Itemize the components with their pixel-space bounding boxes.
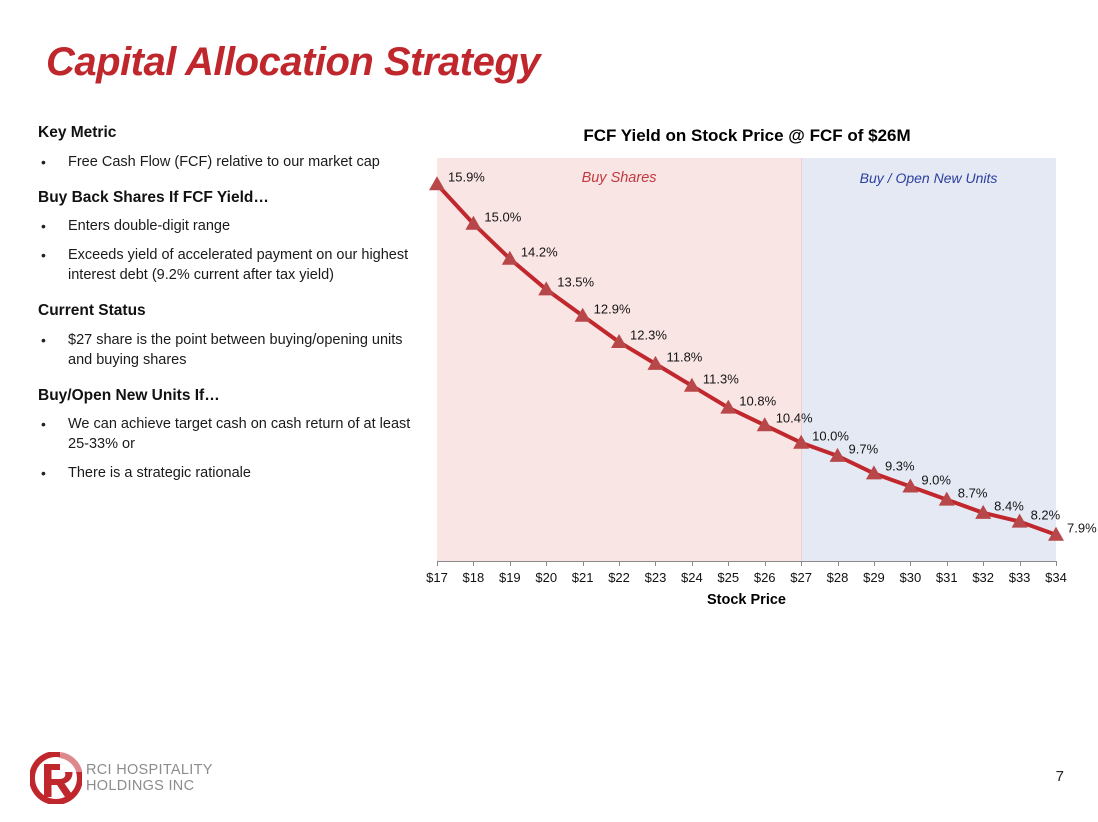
logo-wordmark: RCI HOSPITALITY HOLDINGS INC xyxy=(86,762,213,794)
x-axis-tick-label: $24 xyxy=(681,570,703,585)
data-point-label: 10.4% xyxy=(776,411,813,426)
series-marker xyxy=(684,378,700,392)
x-axis-tick xyxy=(765,561,766,566)
x-axis-tick xyxy=(838,561,839,566)
bullet-item: •There is a strategic rationale xyxy=(38,463,423,483)
x-axis-tick-label: $26 xyxy=(754,570,776,585)
x-axis-title: Stock Price xyxy=(437,592,1056,608)
x-axis-tick xyxy=(583,561,584,566)
bullet-item: •$27 share is the point between buying/o… xyxy=(38,330,423,370)
bullet-item: •Free Cash Flow (FCF) relative to our ma… xyxy=(38,152,423,172)
data-point-label: 8.2% xyxy=(1031,507,1061,522)
x-axis-tick xyxy=(801,561,802,566)
bullet-text: There is a strategic rationale xyxy=(68,463,423,483)
x-axis-tick xyxy=(692,561,693,566)
x-axis-line xyxy=(437,561,1056,562)
content-section: Key Metric•Free Cash Flow (FCF) relative… xyxy=(38,124,423,172)
x-axis-tick-label: $31 xyxy=(936,570,958,585)
x-axis-tick-label: $19 xyxy=(499,570,521,585)
x-axis-tick-label: $21 xyxy=(572,570,594,585)
series-marker xyxy=(429,176,445,190)
x-axis-tick-label: $20 xyxy=(535,570,557,585)
series-line xyxy=(437,184,1056,534)
section-heading: Current Status xyxy=(38,302,423,321)
bullet-marker-icon: • xyxy=(38,414,68,434)
x-axis-tick-label: $34 xyxy=(1045,570,1067,585)
x-axis-tick xyxy=(619,561,620,566)
x-axis-tick-label: $29 xyxy=(863,570,885,585)
data-point-label: 13.5% xyxy=(557,275,594,290)
data-point-label: 11.3% xyxy=(703,371,739,386)
data-point-label: 11.8% xyxy=(666,349,702,364)
section-heading: Buy Back Shares If FCF Yield… xyxy=(38,189,423,208)
x-axis-tick xyxy=(1020,561,1021,566)
x-axis-tick-label: $33 xyxy=(1009,570,1031,585)
x-axis-tick-label: $28 xyxy=(827,570,849,585)
x-axis-tick xyxy=(546,561,547,566)
page-number: 7 xyxy=(1056,768,1064,785)
x-axis-tick xyxy=(655,561,656,566)
bullet-item: •We can achieve target cash on cash retu… xyxy=(38,414,423,454)
series-marker xyxy=(647,356,663,370)
x-axis-tick xyxy=(874,561,875,566)
chart-panel: FCF Yield on Stock Price @ FCF of $26M B… xyxy=(437,126,1057,626)
section-heading: Buy/Open New Units If… xyxy=(38,387,423,406)
content-section: Current Status•$27 share is the point be… xyxy=(38,302,423,370)
bullet-text: $27 share is the point between buying/op… xyxy=(68,330,423,370)
x-axis-tick xyxy=(437,561,438,566)
bullet-item: •Enters double-digit range xyxy=(38,216,423,236)
x-axis-tick-label: $30 xyxy=(899,570,921,585)
x-axis-tick-label: $23 xyxy=(645,570,667,585)
bullet-text: We can achieve target cash on cash retur… xyxy=(68,414,423,454)
content-section: Buy/Open New Units If…•We can achieve ta… xyxy=(38,387,423,484)
data-point-label: 9.3% xyxy=(885,459,915,474)
data-point-label: 7.9% xyxy=(1067,520,1097,535)
company-logo: RCI HOSPITALITY HOLDINGS INC xyxy=(30,752,240,808)
data-point-label: 8.7% xyxy=(958,485,988,500)
bullet-item: •Exceeds yield of accelerated payment on… xyxy=(38,245,423,285)
bullet-marker-icon: • xyxy=(38,152,68,172)
content-section: Buy Back Shares If FCF Yield…•Enters dou… xyxy=(38,189,423,286)
bullet-text: Enters double-digit range xyxy=(68,216,423,236)
data-point-label: 9.0% xyxy=(921,472,951,487)
data-point-label: 12.3% xyxy=(630,327,667,342)
slide-root: Capital Allocation Strategy Key Metric•F… xyxy=(0,0,1098,822)
series-marker xyxy=(720,400,736,414)
data-point-label: 10.8% xyxy=(739,393,776,408)
x-axis-tick-label: $18 xyxy=(463,570,485,585)
bullet-marker-icon: • xyxy=(38,216,68,236)
bullet-marker-icon: • xyxy=(38,330,68,350)
x-axis-tick-label: $25 xyxy=(717,570,739,585)
x-axis-tick xyxy=(1056,561,1057,566)
data-point-label: 10.0% xyxy=(812,428,849,443)
x-axis-tick-label: $32 xyxy=(972,570,994,585)
x-axis-tick xyxy=(510,561,511,566)
x-axis-tick xyxy=(473,561,474,566)
chart-title: FCF Yield on Stock Price @ FCF of $26M xyxy=(437,126,1057,146)
x-axis-tick-label: $22 xyxy=(608,570,630,585)
x-axis-tick-label: $27 xyxy=(790,570,812,585)
rci-circle-r-logo-icon xyxy=(30,752,82,804)
x-axis-tick xyxy=(983,561,984,566)
data-point-label: 14.2% xyxy=(521,244,558,259)
data-point-label: 12.9% xyxy=(594,301,631,316)
x-axis-tick xyxy=(910,561,911,566)
data-point-label: 15.0% xyxy=(484,209,521,224)
data-point-label: 9.7% xyxy=(849,441,879,456)
page-title: Capital Allocation Strategy xyxy=(46,40,540,85)
x-axis-tick xyxy=(947,561,948,566)
left-content-column: Key Metric•Free Cash Flow (FCF) relative… xyxy=(38,124,423,500)
logo-wordmark-line2: HOLDINGS INC xyxy=(86,778,213,794)
section-heading: Key Metric xyxy=(38,124,423,143)
bullet-marker-icon: • xyxy=(38,463,68,483)
bullet-text: Free Cash Flow (FCF) relative to our mar… xyxy=(68,152,423,172)
bullet-text: Exceeds yield of accelerated payment on … xyxy=(68,245,423,285)
x-axis-tick-label: $17 xyxy=(426,570,448,585)
data-point-label: 8.4% xyxy=(994,498,1024,513)
x-axis-tick xyxy=(728,561,729,566)
bullet-marker-icon: • xyxy=(38,245,68,265)
data-point-label: 15.9% xyxy=(448,170,485,185)
chart-series-fcf-yield xyxy=(437,158,1056,561)
logo-wordmark-line1: RCI HOSPITALITY xyxy=(86,762,213,778)
